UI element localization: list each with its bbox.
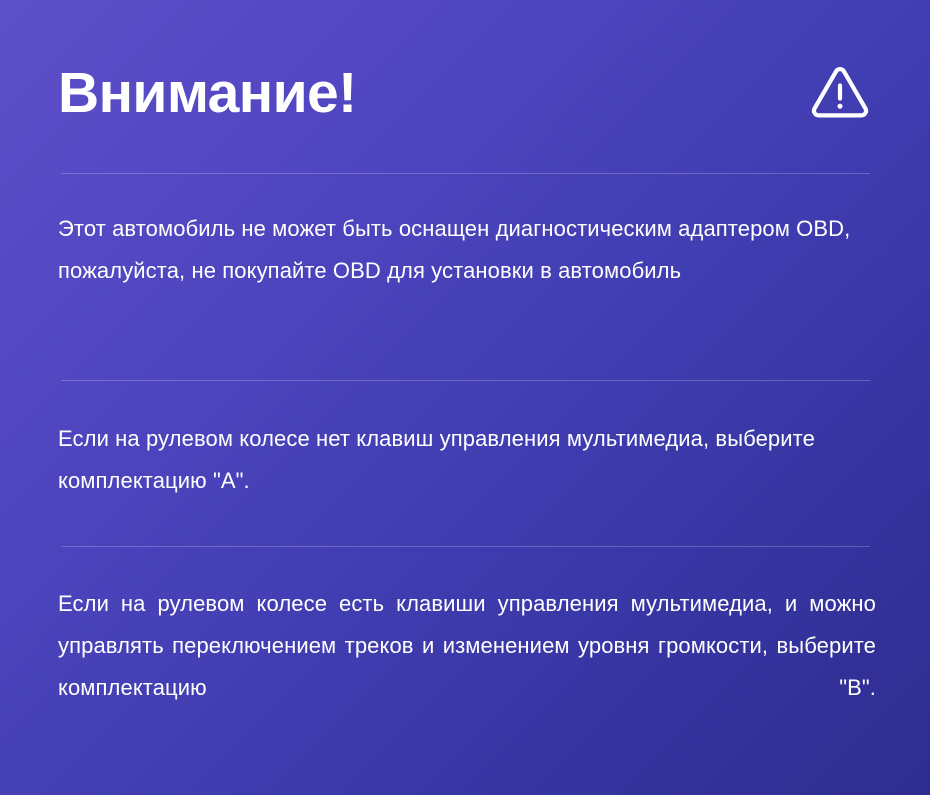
warning-notice-card: Внимание! Этот автомобиль не может быть … — [0, 0, 930, 795]
notice-header: Внимание! — [58, 52, 872, 136]
paragraph-text: Этот автомобиль не может быть оснащен ди… — [58, 208, 876, 292]
paragraph-trim-b: Если на рулевом колесе есть клавиши упра… — [58, 583, 876, 751]
paragraph-trim-a: Если на рулевом колесе нет клавиш управл… — [58, 418, 876, 502]
warning-triangle-icon — [810, 64, 872, 124]
page-title: Внимание! — [58, 64, 357, 124]
paragraph-text: Если на рулевом колесе нет клавиш управл… — [58, 418, 876, 502]
paragraph-obd-warning: Этот автомобиль не может быть оснащен ди… — [58, 208, 876, 292]
divider-3 — [61, 546, 870, 547]
divider-2 — [61, 380, 870, 381]
paragraph-text: Если на рулевом колесе есть клавиши упра… — [58, 583, 876, 751]
divider-1 — [61, 173, 870, 174]
